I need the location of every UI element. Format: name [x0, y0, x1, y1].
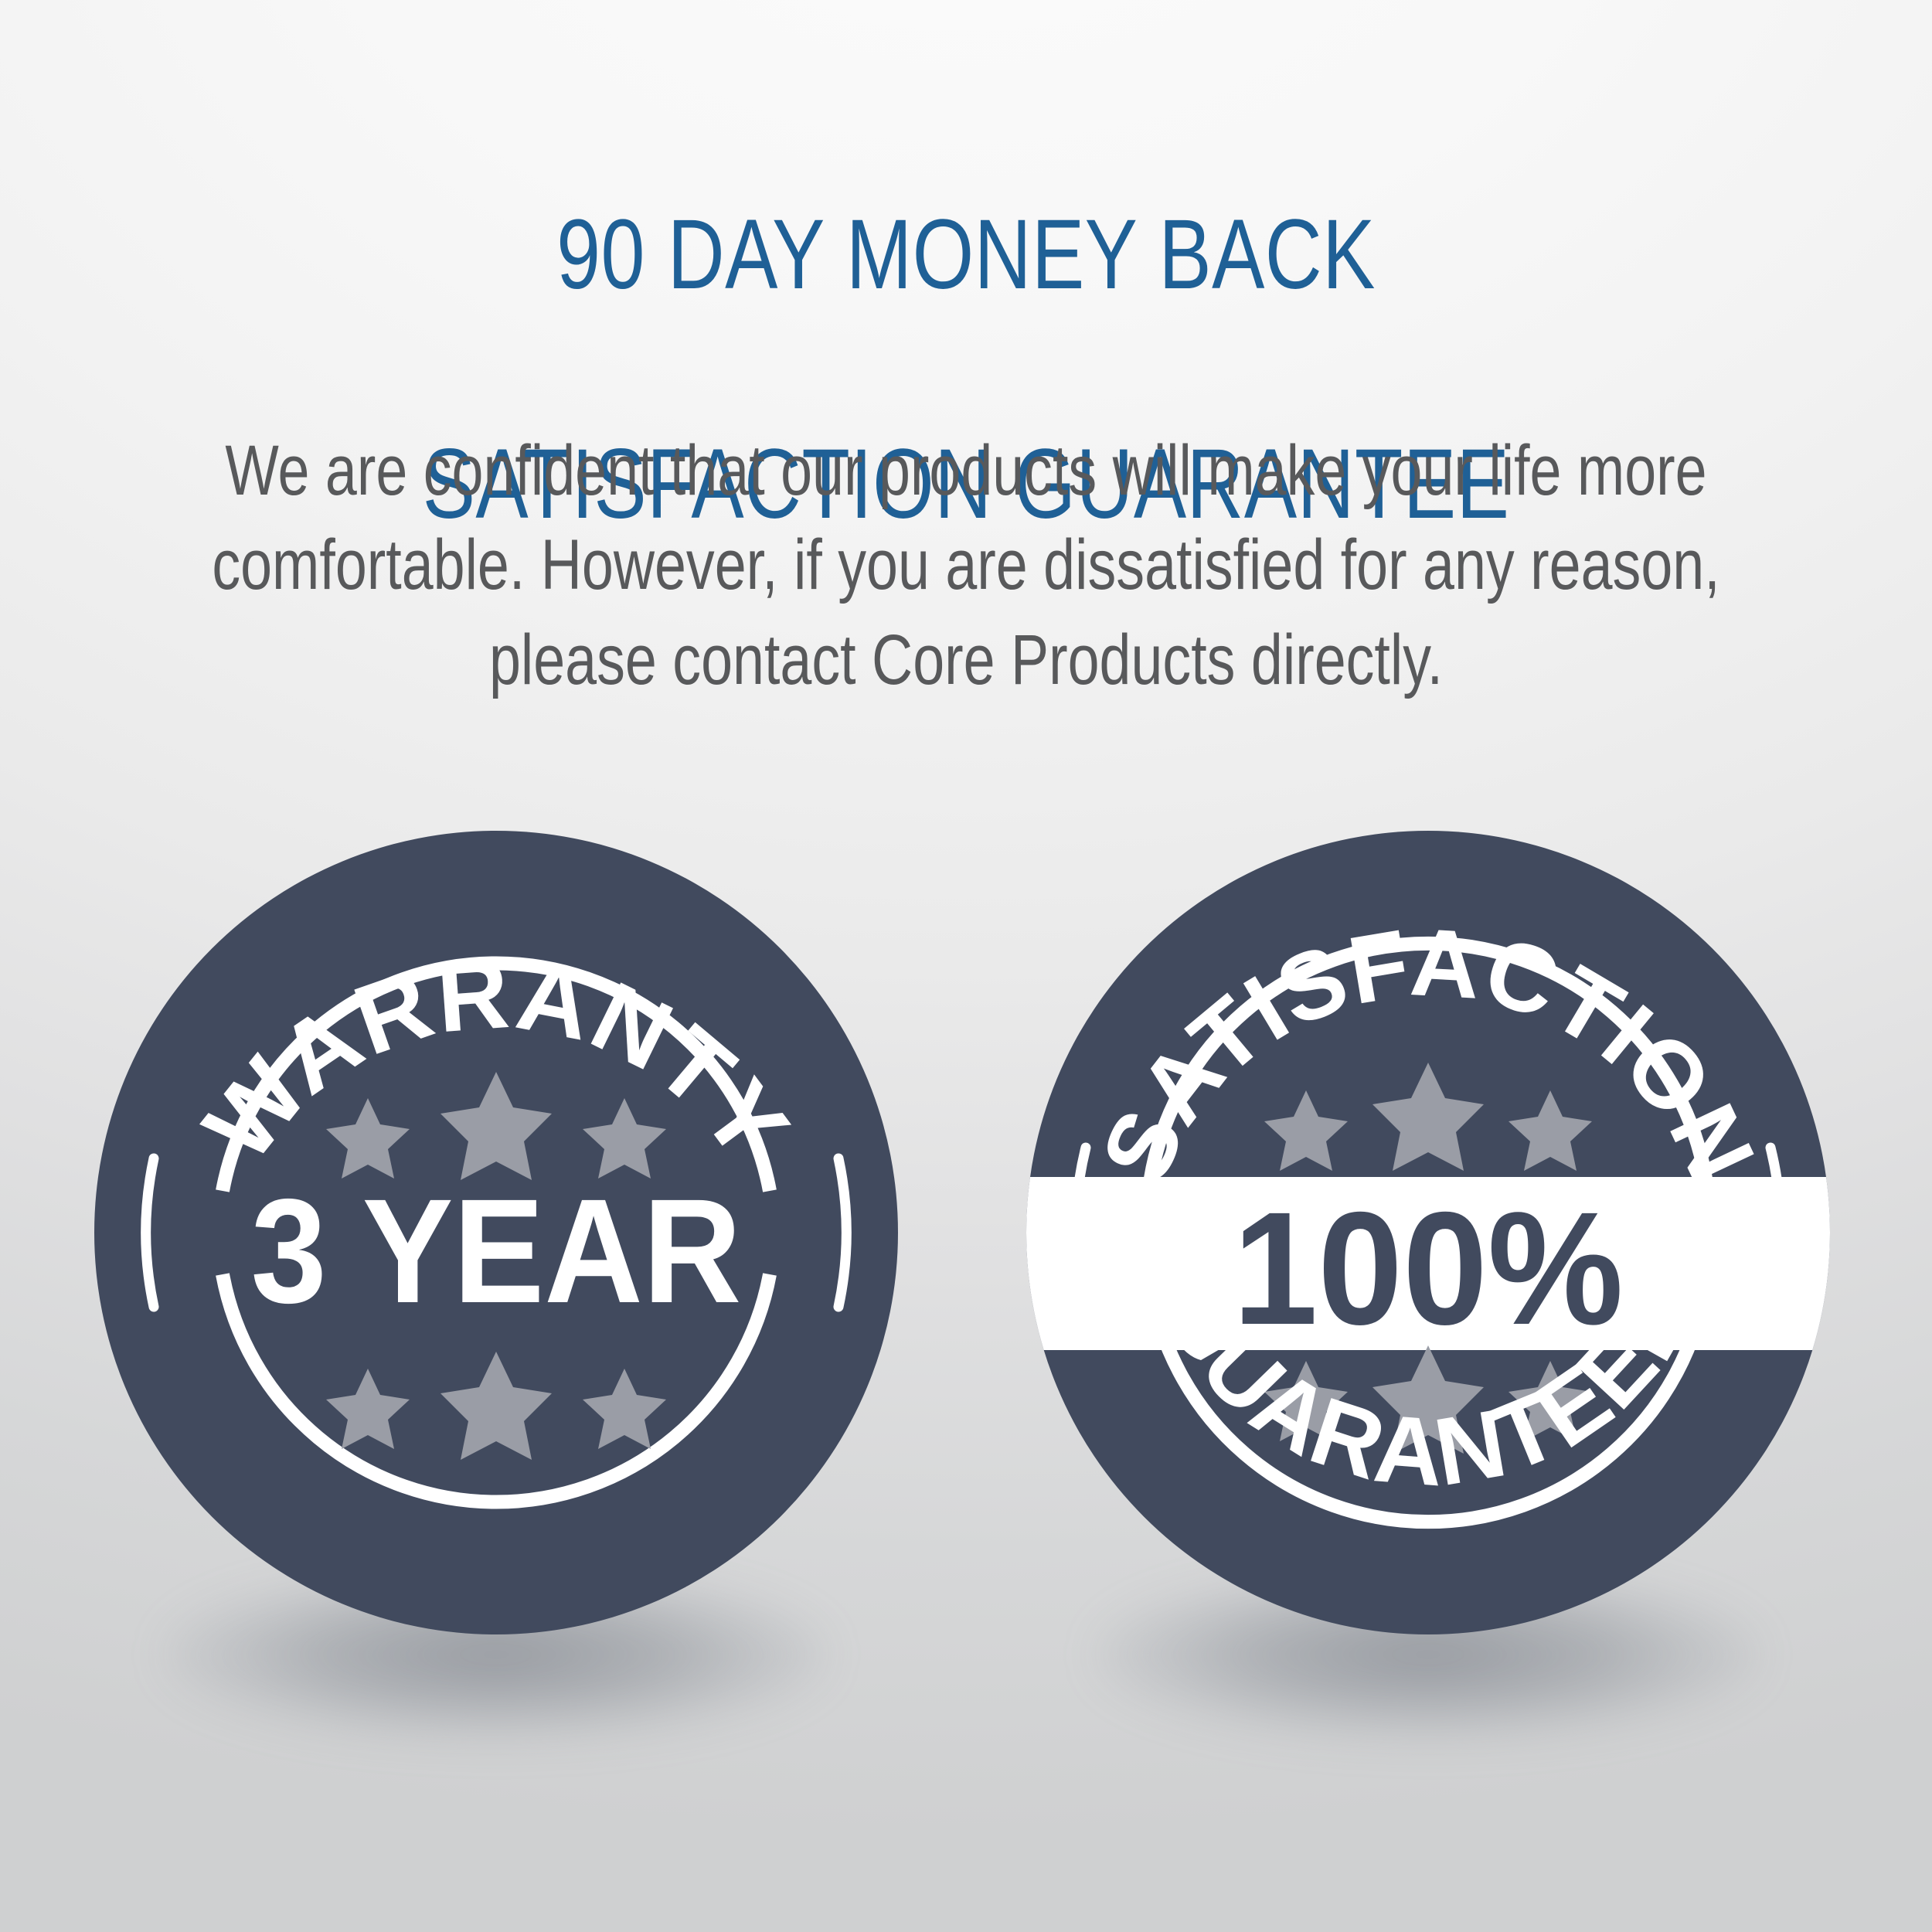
- warranty-center-text: 3 YEAR: [251, 1168, 742, 1334]
- satisfaction-badge: SATISFACTION 100%: [1026, 831, 1830, 1634]
- body-paragraph-line-1: We are confident that our products will …: [193, 423, 1739, 518]
- satisfaction-badge-graphic: SATISFACTION 100%: [1026, 831, 1830, 1634]
- guarantee-graphic: 90 DAY MONEY BACK SATISFACTION GUARANTEE…: [0, 0, 1932, 1932]
- body-paragraph-line-3: please contact Core Products directly.: [193, 613, 1739, 707]
- warranty-badge-graphic: WARRANTY 3 YEAR: [94, 831, 898, 1634]
- body-paragraph: We are confident that our products will …: [193, 423, 1739, 707]
- warranty-badge: WARRANTY 3 YEAR: [94, 831, 898, 1634]
- badge-row: WARRANTY 3 YEAR: [0, 831, 1932, 1696]
- body-paragraph-line-2: comfortable. However, if you are dissati…: [193, 518, 1739, 612]
- page-title-line-1: 90 DAY MONEY BACK: [193, 198, 1739, 312]
- satisfaction-band-text: 100%: [1233, 1178, 1623, 1358]
